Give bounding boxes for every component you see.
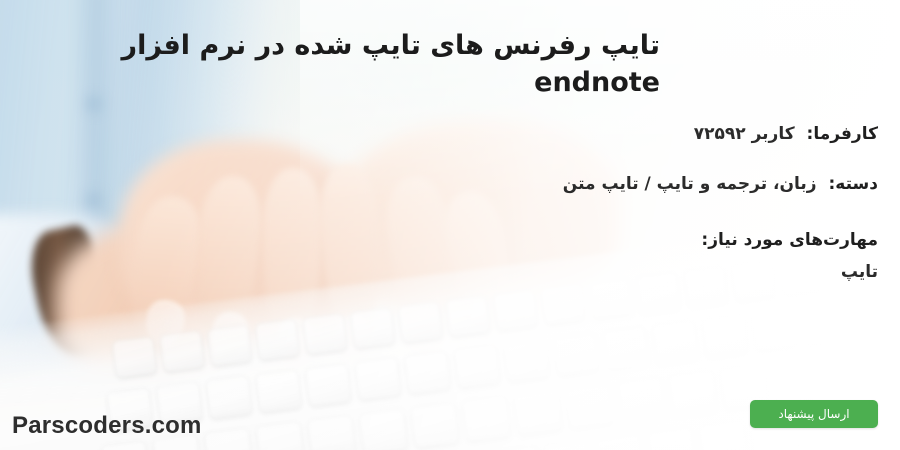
category-row: دسته: زبان، ترجمه و تایپ / تایپ متن bbox=[0, 172, 878, 198]
site-watermark: Parscoders.com bbox=[12, 412, 202, 440]
employer-value[interactable]: کاربر ۷۲۵۹۲ bbox=[694, 124, 795, 144]
employer-row: کارفرما: کاربر ۷۲۵۹۲ bbox=[0, 122, 878, 148]
banner-content: تایپ رفرنس های تایپ شده در نرم افزار end… bbox=[0, 0, 900, 450]
page-title: تایپ رفرنس های تایپ شده در نرم افزار end… bbox=[0, 18, 660, 101]
skills-section: مهارت‌های مورد نیاز: تایپ bbox=[0, 227, 878, 285]
submit-proposal-button[interactable]: ارسال پیشنهاد bbox=[750, 400, 878, 428]
skills-value[interactable]: تایپ bbox=[0, 259, 878, 285]
category-value[interactable]: زبان، ترجمه و تایپ / تایپ متن bbox=[563, 174, 817, 194]
employer-label: کارفرما: bbox=[807, 124, 878, 144]
skills-label: مهارت‌های مورد نیاز: bbox=[0, 227, 878, 253]
category-label: دسته: bbox=[829, 174, 879, 194]
project-banner: تایپ رفرنس های تایپ شده در نرم افزار end… bbox=[0, 0, 900, 450]
